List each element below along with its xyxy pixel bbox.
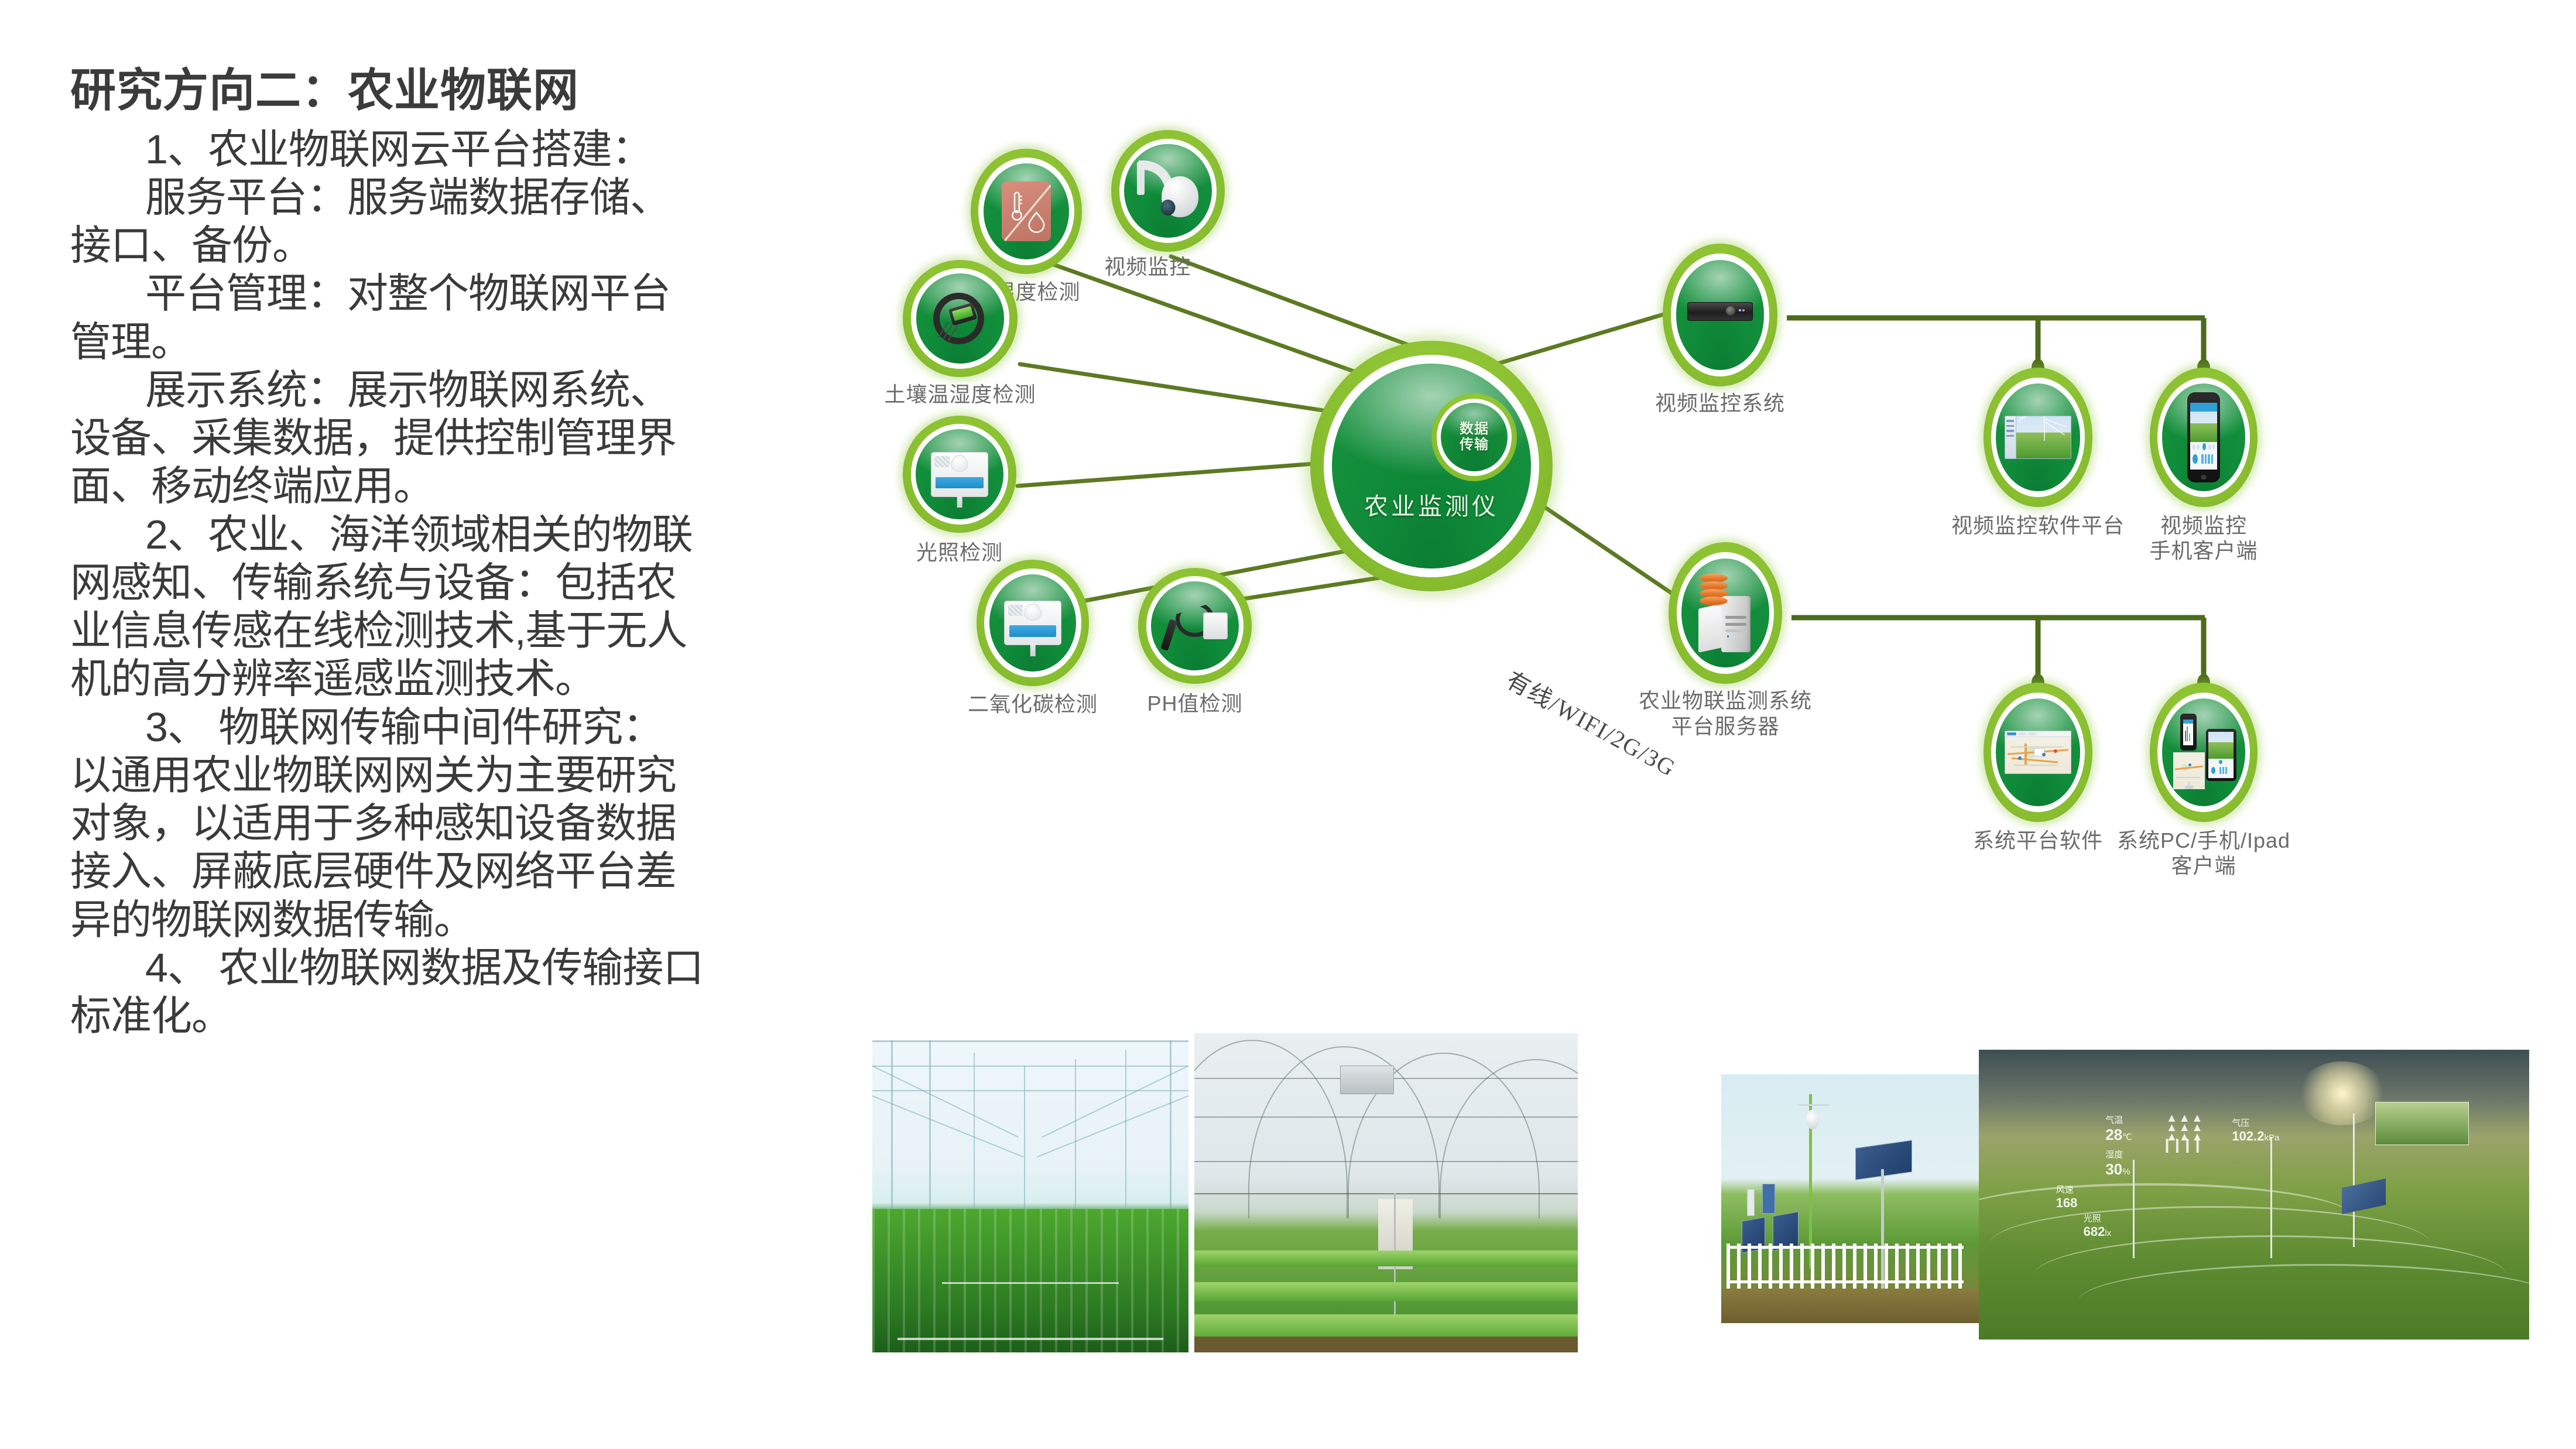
body-line: 网感知、传输系统与设备：包括农 [70,559,872,607]
node-label: 二氧化碳检测 [968,691,1098,717]
terraced-field-iot-photo: ▲▲▲▲▲▲▲▲▲▎▎▎▎ 气温28℃ 湿度30% 气压102.2kPa 风速1… [1979,1050,2529,1340]
text-column: 研究方向二：农业物联网 1、农业物联网云平台搭建：服务平台：服务端数据存储、接口… [70,64,872,1040]
hud-hum: 湿度30% [2105,1148,2130,1179]
node-inner-circle [916,273,1005,364]
node-light-detection[interactable]: 光照检测 [903,416,1016,533]
node-video-surveillance[interactable]: 视频监控 [1111,130,1225,252]
dvr-recorder-icon [1676,260,1765,370]
body-line: 1、农业物联网云平台搭建： [70,125,872,173]
node-inner-circle [1151,581,1238,670]
node-label: 视频监控 [1104,254,1191,280]
hub-sub-node-data-transmission[interactable]: 数据传输 [1431,393,1517,481]
node-ring [903,260,1018,377]
thermometer-humidity-icon [984,163,1069,260]
hud-wind: 风速168 [2056,1183,2078,1211]
co2-sensor-icon [989,574,1076,672]
small-phone-icon [2180,714,2197,751]
body-line: 机的高分辨率遥感监测技术。 [70,655,872,703]
body-line: 接入、屏蔽底层硬件及网络平台差 [70,847,872,895]
node-label: 系统平台软件 [1973,828,2103,854]
mobile-phone-icon [2162,383,2245,491]
body-line: 平台管理：对整个物联网平台 [70,269,872,317]
node-multi-device-client[interactable]: 系统PC/手机/Ipad客户端 [2150,683,2258,822]
node-label: 土壤温湿度检测 [884,382,1036,407]
node-inner-circle [916,429,1003,519]
node-inner-circle [1676,260,1765,370]
node-ring [1984,368,2092,507]
hud-lux: 光照682lx [2084,1212,2112,1239]
node-ring [1111,130,1225,252]
body-line: 对象，以适用于多种感知设备数据 [70,799,872,847]
hud-press: 气压102.2kPa [2232,1116,2279,1144]
field-weather-station-photo [1721,1074,1979,1323]
ptz-camera-icon [1124,144,1211,238]
node-ring [903,416,1016,533]
node-label: 视频监控软件平台 [1951,513,2125,539]
body-line: 业信息传感在线检测技术,基于无人 [70,607,872,655]
glass-greenhouse-photo [872,1040,1188,1352]
body-line: 管理。 [70,318,872,366]
hub-ring: 农业监测仪 数据传输 [1310,341,1553,591]
node-soil-temp-humidity-detection[interactable]: 土壤温湿度检测 [903,260,1018,377]
node-video-software-platform[interactable]: 视频监控软件平台 [1984,368,2092,507]
node-inner-circle [1124,144,1211,238]
node-video-surveillance-system[interactable]: 视频监控系统 [1663,244,1777,386]
node-inner-circle [1996,383,2080,491]
node-label: 系统PC/手机/Ipad客户端 [2117,828,2290,879]
iot-architecture-diagram: 农业监测仪 数据传输 有线/WIFI/2G/3G [866,135,2576,1025]
hub-sub-label: 数据传输 [1460,422,1489,453]
slide-canvas: 研究方向二：农业物联网 1、农业物联网云平台搭建：服务平台：服务端数据存储、接口… [0,0,2576,1449]
node-label: 农业物联监测系统平台服务器 [1639,688,1812,739]
body-line: 4、 农业物联网数据及传输接口 [70,944,872,992]
node-inner-circle [1996,698,2080,806]
node-iot-platform-server[interactable]: 农业物联监测系统平台服务器 [1669,542,1782,684]
node-system-platform-software[interactable]: 系统平台软件 [1984,683,2092,822]
node-ring [1663,244,1777,386]
node-co2-detection[interactable]: 二氧化碳检测 [977,560,1089,686]
desktop-software-icon [1996,383,2080,491]
node-ph-detection[interactable]: PH值检测 [1138,568,1252,684]
body-line: 2、农业、海洋领域相关的物联 [70,511,872,559]
node-inner-circle [1681,559,1769,667]
tablet-icon [2206,729,2236,781]
node-inner-circle [2162,383,2245,491]
node-ring [2150,368,2258,507]
body-line: 3、 物联网传输中间件研究： [70,703,872,751]
multi-device-icon [2162,698,2245,806]
body-line: 接口、备份。 [70,221,872,269]
node-ring [1984,683,2092,822]
light-sensor-icon [916,429,1003,519]
body-line: 展示系统：展示物联网系统、 [70,366,872,414]
node-ring [1138,568,1252,684]
node-temp-humidity-detection[interactable]: 温湿度检测 [971,149,1082,274]
hub-label: 农业监测仪 [1332,487,1531,522]
body-line: 服务平台：服务端数据存储、 [70,173,872,221]
soil-sensor-icon [916,273,1005,364]
node-ring [977,560,1089,686]
node-ring [971,149,1082,274]
node-inner-circle [984,163,1069,260]
node-video-mobile-client[interactable]: 视频监控手机客户端 [2150,368,2258,507]
node-ring [2150,683,2258,822]
tunnel-greenhouse-photo [1194,1033,1578,1352]
desktop-monitor-icon [2173,752,2205,789]
body-line: 设备、采集数据，提供控制管理界 [70,414,872,462]
hub-node-agricultural-monitor[interactable]: 农业监测仪 数据传输 [1310,341,1553,591]
body-text-block: 1、农业物联网云平台搭建：服务平台：服务端数据存储、接口、备份。平台管理：对整个… [70,125,872,1040]
node-label: PH值检测 [1147,691,1242,717]
node-label: 视频监控系统 [1655,390,1785,416]
body-line: 标准化。 [70,992,872,1040]
map-software-icon [1996,698,2080,806]
hub-sub-inner-circle: 数据传输 [1441,403,1508,471]
hud-temp: 气温28℃ [2105,1114,2132,1144]
body-line: 异的物联网数据传输。 [70,896,872,944]
body-line: 面、移动终端应用。 [70,462,872,510]
page-title: 研究方向二：农业物联网 [70,64,872,117]
database-server-icon [1681,559,1769,667]
photo-strip: ▲▲▲▲▲▲▲▲▲▎▎▎▎ 气温28℃ 湿度30% 气压102.2kPa 风速1… [872,1033,2570,1352]
body-line: 以通用农业物联网网关为主要研究 [70,751,872,799]
node-inner-circle [2162,698,2245,806]
node-inner-circle [989,574,1076,672]
ph-probe-icon [1151,581,1238,670]
node-label: 视频监控手机客户端 [2149,513,2258,564]
node-ring [1669,542,1782,684]
